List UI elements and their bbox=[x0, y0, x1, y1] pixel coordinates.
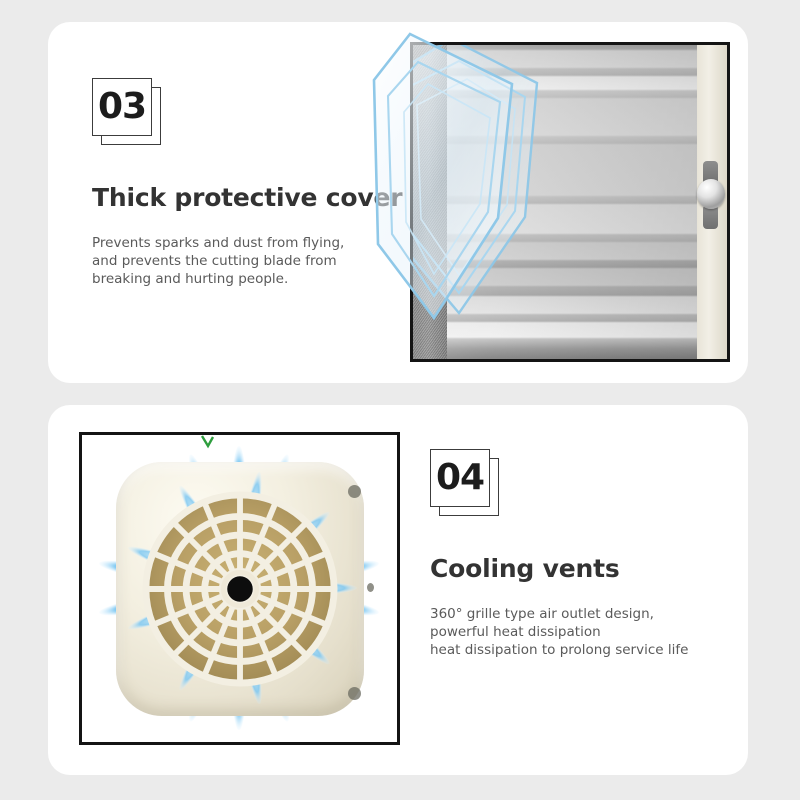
badge-face: 04 bbox=[430, 449, 490, 507]
housing-port-top-right bbox=[348, 485, 361, 498]
feature-headline-04: Cooling vents bbox=[430, 555, 730, 583]
housing-port-bottom-right bbox=[348, 687, 361, 700]
feature-description-03: Prevents sparks and dust from flying, an… bbox=[92, 234, 402, 288]
green-wire-tag bbox=[200, 435, 216, 449]
step-number-text: 04 bbox=[436, 460, 484, 496]
feature-headline-03: Thick protective cover bbox=[92, 184, 402, 212]
step-number-badge-04: 04 bbox=[430, 449, 500, 517]
feature-description-04: 360° grille type air outlet design, powe… bbox=[430, 605, 730, 659]
badge-face: 03 bbox=[92, 78, 152, 136]
step-number-badge-03: 03 bbox=[92, 78, 162, 146]
machine-sheen-overlay bbox=[413, 45, 727, 359]
cooling-vent-scene bbox=[82, 435, 397, 742]
circular-grille-icon bbox=[142, 491, 338, 687]
feature-text-block-03: 03 Thick protective cover Prevents spark… bbox=[92, 78, 402, 288]
feature-card-03: 03 Thick protective cover Prevents spark… bbox=[48, 22, 748, 383]
step-number-text: 03 bbox=[98, 89, 146, 125]
feature-card-04: 04 Cooling vents 360° grille type air ou… bbox=[48, 405, 748, 775]
product-photo-cooling-vents bbox=[79, 432, 400, 745]
feature-text-block-04: 04 Cooling vents 360° grille type air ou… bbox=[430, 449, 730, 659]
chrome-knob bbox=[697, 179, 725, 209]
machine-left-post bbox=[413, 45, 447, 359]
housing-port-right-small bbox=[367, 583, 374, 592]
product-photo-protective-cover bbox=[410, 42, 730, 362]
infographic-page: 03 Thick protective cover Prevents spark… bbox=[0, 0, 800, 800]
